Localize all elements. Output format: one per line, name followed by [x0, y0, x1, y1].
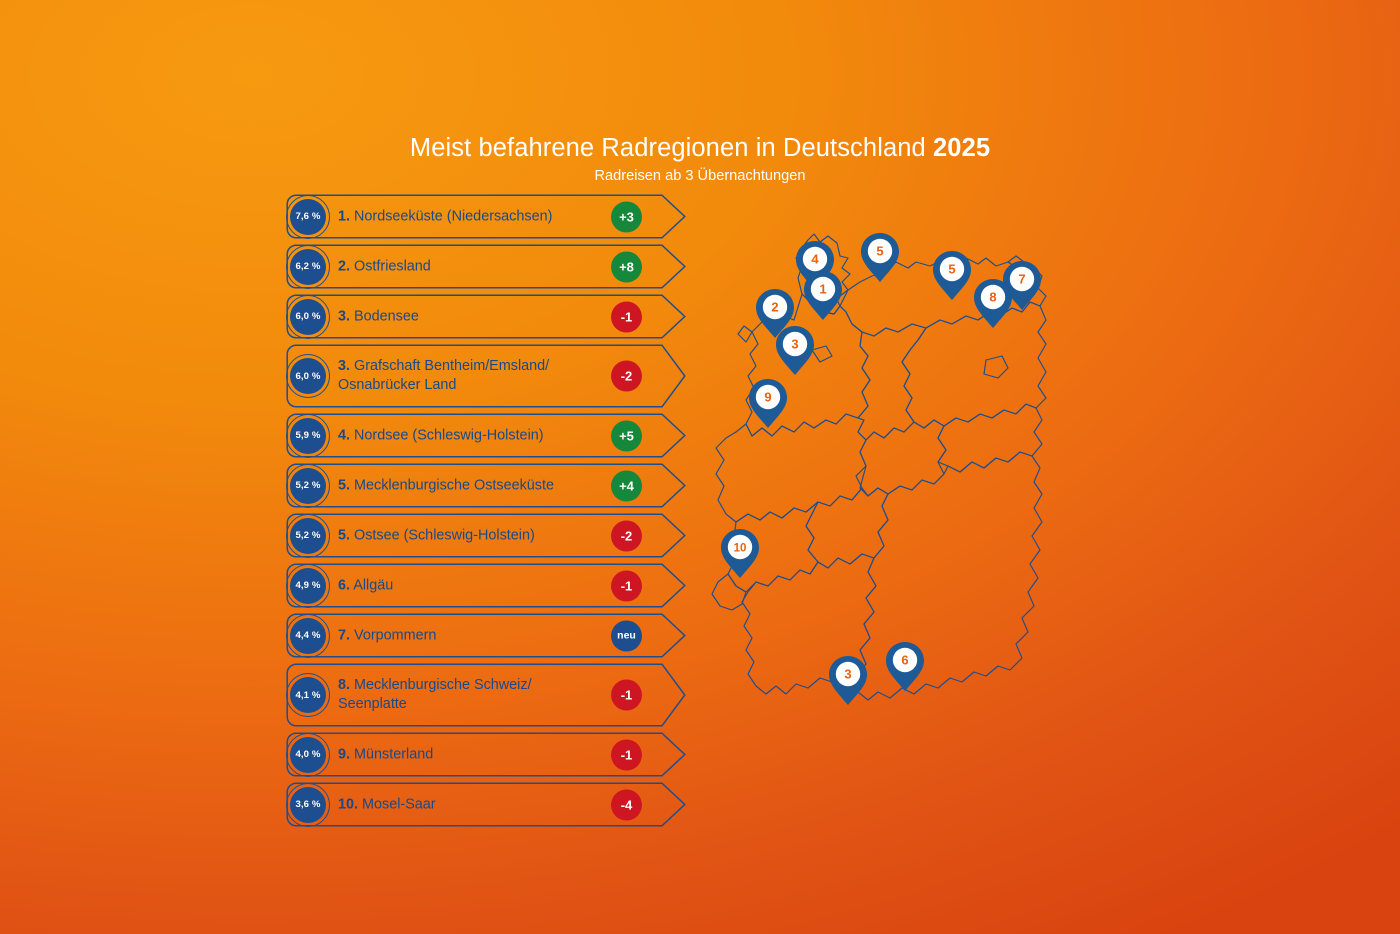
change-badge: +5 [611, 420, 642, 451]
region-rank: 8. [338, 677, 350, 693]
map-pin[interactable]: 6 [886, 642, 924, 691]
percentage-circle: 5,2 % [286, 514, 330, 558]
map-pin[interactable]: 10 [721, 529, 759, 578]
region-rank: 3. [338, 358, 350, 374]
percentage-value: 4,4 % [290, 618, 326, 654]
change-badge: -1 [611, 739, 642, 770]
region-label: 1. Nordseeküste (Niedersachsen) [338, 207, 618, 226]
region-rank: 9. [338, 746, 350, 762]
percentage-value: 5,2 % [290, 518, 326, 554]
page-title-main: Meist befahrene Radregionen in Deutschla… [410, 134, 933, 162]
percentage-circle: 4,1 % [286, 673, 330, 717]
region-label: 3. Bodensee [338, 307, 618, 326]
percentage-value: 6,2 % [290, 249, 326, 285]
region-label: 8. Mecklenburgische Schweiz/ Seenplatte [338, 676, 618, 714]
ranking-row[interactable]: 6,2 %2. Ostfriesland+8 [286, 244, 686, 289]
pin-number: 10 [734, 543, 747, 555]
region-name: Mosel-Saar [358, 796, 436, 812]
ranking-row[interactable]: 5,2 %5. Ostsee (Schleswig-Holstein)-2 [286, 513, 686, 558]
region-rank: 6. [338, 577, 350, 593]
change-badge: +4 [611, 470, 642, 501]
region-name: Mecklenburgische Ostseeküste [350, 477, 554, 493]
change-badge: -4 [611, 789, 642, 820]
percentage-value: 6,0 % [290, 299, 326, 335]
percentage-circle: 6,2 % [286, 245, 330, 289]
percentage-value: 7,6 % [290, 199, 326, 235]
percentage-circle: 6,0 % [286, 354, 330, 398]
region-name: Münsterland [350, 746, 433, 762]
region-name: Ostfriesland [350, 258, 431, 274]
region-rank: 3. [338, 308, 350, 324]
region-label: 5. Ostsee (Schleswig-Holstein) [338, 526, 618, 545]
change-badge: -1 [611, 680, 642, 711]
region-label: 7. Vorpommern [338, 626, 618, 645]
ranking-row[interactable]: 5,2 %5. Mecklenburgische Ostseeküste+4 [286, 463, 686, 508]
percentage-circle: 4,0 % [286, 733, 330, 777]
percentage-circle: 7,6 % [286, 195, 330, 239]
region-name: Grafschaft Bentheim/Emsland/ Osnabrücker… [338, 358, 549, 393]
map-pin[interactable]: 3 [829, 656, 867, 705]
map-pin[interactable]: 8 [974, 279, 1012, 328]
region-label: 10. Mosel-Saar [338, 795, 618, 814]
ranking-row[interactable]: 5,9 %4. Nordsee (Schleswig-Holstein)+5 [286, 413, 686, 458]
region-name: Ostsee (Schleswig-Holstein) [350, 527, 535, 543]
pin-number: 8 [989, 290, 996, 305]
region-label: 2. Ostfriesland [338, 257, 618, 276]
ranking-row[interactable]: 4,0 %9. Münsterland-1 [286, 732, 686, 777]
ranking-row[interactable]: 3,6 %10. Mosel-Saar-4 [286, 782, 686, 827]
region-name: Nordseeküste (Niedersachsen) [350, 208, 552, 224]
ranking-row[interactable]: 6,0 %3. Bodensee-1 [286, 294, 686, 339]
pin-number: 5 [876, 244, 883, 259]
pin-number: 3 [844, 667, 851, 682]
region-label: 5. Mecklenburgische Ostseeküste [338, 476, 618, 495]
ranking-row[interactable]: 4,4 %7. Vorpommernneu [286, 613, 686, 658]
region-rank: 5. [338, 527, 350, 543]
pin-number: 1 [819, 282, 826, 297]
page-subtitle: Radreisen ab 3 Übernachtungen [0, 166, 1400, 186]
percentage-circle: 3,6 % [286, 783, 330, 827]
map-pin[interactable]: 5 [861, 233, 899, 282]
map-pin[interactable]: 3 [776, 326, 814, 375]
change-badge: +8 [611, 251, 642, 282]
region-name: Nordsee (Schleswig-Holstein) [350, 427, 544, 443]
map-pin[interactable]: 5 [933, 251, 971, 300]
percentage-value: 4,1 % [290, 677, 326, 713]
percentage-circle: 4,9 % [286, 564, 330, 608]
region-name: Allgäu [350, 577, 393, 593]
percentage-circle: 5,2 % [286, 464, 330, 508]
pin-number: 4 [811, 252, 819, 267]
germany-map: 4557812391036 [690, 228, 1110, 768]
header: Meist befahrene Radregionen in Deutschla… [0, 132, 1400, 186]
region-rank: 2. [338, 258, 350, 274]
percentage-value: 5,9 % [290, 418, 326, 454]
change-badge: neu [611, 620, 642, 651]
pin-number: 9 [764, 390, 771, 405]
percentage-value: 5,2 % [290, 468, 326, 504]
change-badge: +3 [611, 201, 642, 232]
map-pins: 4557812391036 [721, 233, 1041, 705]
page-title: Meist befahrene Radregionen in Deutschla… [0, 132, 1400, 164]
pin-number: 7 [1018, 272, 1025, 287]
ranking-list: 7,6 %1. Nordseeküste (Niedersachsen)+36,… [286, 194, 686, 832]
region-name: Bodensee [350, 308, 419, 324]
ranking-row[interactable]: 6,0 %3. Grafschaft Bentheim/Emsland/ Osn… [286, 344, 686, 408]
region-rank: 10. [338, 796, 358, 812]
percentage-value: 6,0 % [290, 358, 326, 394]
region-rank: 1. [338, 208, 350, 224]
pin-number: 5 [948, 262, 955, 277]
region-name: Mecklenburgische Schweiz/ Seenplatte [338, 677, 532, 712]
change-badge: -2 [611, 361, 642, 392]
percentage-circle: 5,9 % [286, 414, 330, 458]
change-badge: -1 [611, 301, 642, 332]
region-label: 4. Nordsee (Schleswig-Holstein) [338, 426, 618, 445]
pin-number: 3 [791, 337, 798, 352]
map-pin[interactable]: 9 [749, 379, 787, 428]
region-rank: 4. [338, 427, 350, 443]
pin-number: 6 [901, 653, 908, 668]
region-rank: 5. [338, 477, 350, 493]
map-pin[interactable]: 1 [804, 271, 842, 320]
region-label: 3. Grafschaft Bentheim/Emsland/ Osnabrüc… [338, 357, 618, 395]
region-label: 9. Münsterland [338, 745, 618, 764]
ranking-row[interactable]: 7,6 %1. Nordseeküste (Niedersachsen)+3 [286, 194, 686, 239]
percentage-circle: 6,0 % [286, 295, 330, 339]
ranking-row[interactable]: 4,9 %6. Allgäu-1 [286, 563, 686, 608]
change-badge: -1 [611, 570, 642, 601]
ranking-row[interactable]: 4,1 %8. Mecklenburgische Schweiz/ Seenpl… [286, 663, 686, 727]
percentage-value: 4,0 % [290, 737, 326, 773]
page-title-year: 2025 [933, 134, 990, 162]
percentage-circle: 4,4 % [286, 614, 330, 658]
region-label: 6. Allgäu [338, 576, 618, 595]
region-name: Vorpommern [350, 627, 436, 643]
change-badge: -2 [611, 520, 642, 551]
percentage-value: 3,6 % [290, 787, 326, 823]
pin-number: 2 [771, 300, 778, 315]
percentage-value: 4,9 % [290, 568, 326, 604]
region-rank: 7. [338, 627, 350, 643]
